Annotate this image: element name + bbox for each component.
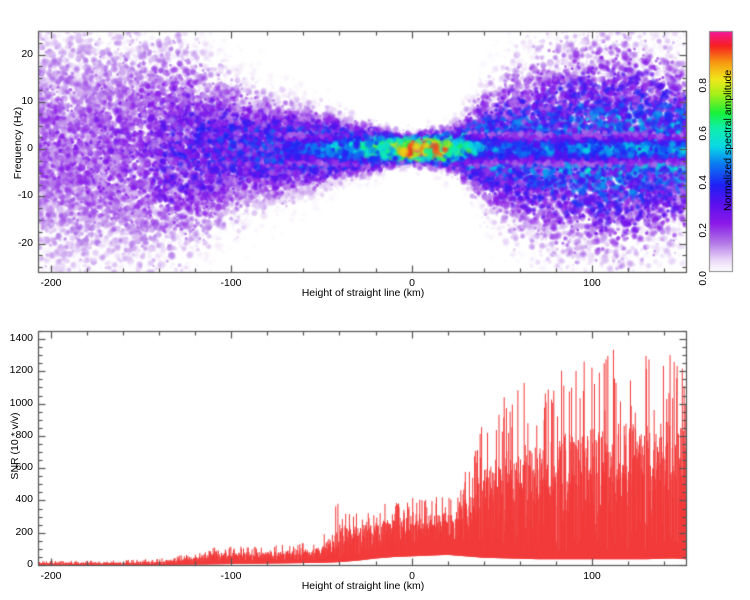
spectrogram-xaxis-label: Height of straight line (km) — [238, 287, 488, 299]
snr-ytick-0: 0 — [0, 558, 33, 570]
plot-canvas — [0, 0, 750, 600]
spectrogram-ytick-2: 0 — [0, 142, 33, 154]
colorbar-tick-2: 0.4 — [697, 175, 709, 209]
spectrogram-xtick-3: 100 — [562, 277, 622, 289]
snr-ytick-7: 1400 — [0, 332, 33, 344]
spectrogram-xtick-0: -200 — [21, 277, 81, 289]
spectrogram-xtick-2: 0 — [382, 277, 442, 289]
figure-container: S225.2025.262.07.39.R08 Height of straig… — [0, 0, 750, 600]
spectrogram-ytick-1: -10 — [0, 189, 33, 201]
snr-ytick-6: 1200 — [0, 364, 33, 376]
snr-xtick-2: 0 — [382, 570, 442, 582]
colorbar-tick-0: 0.0 — [697, 271, 709, 305]
spectrogram-ytick-3: 10 — [0, 95, 33, 107]
colorbar-tick-4: 0.8 — [697, 78, 709, 112]
snr-ytick-4: 800 — [0, 429, 33, 441]
snr-xtick-0: -200 — [21, 570, 81, 582]
colorbar-label: Normalized spectral amplitude — [722, 91, 734, 211]
colorbar-tick-1: 0.2 — [697, 223, 709, 257]
snr-ytick-5: 1000 — [0, 397, 33, 409]
spectrogram-xtick-1: -100 — [201, 277, 261, 289]
snr-ytick-2: 400 — [0, 493, 33, 505]
snr-ytick-3: 600 — [0, 461, 33, 473]
snr-xtick-3: 100 — [562, 570, 622, 582]
spectrogram-ytick-0: -20 — [0, 237, 33, 249]
snr-ytick-1: 200 — [0, 526, 33, 538]
spectrogram-ytick-4: 20 — [0, 48, 33, 60]
colorbar-tick-3: 0.6 — [697, 126, 709, 160]
snr-xtick-1: -100 — [201, 570, 261, 582]
snr-xaxis-label: Height of straight line (km) — [238, 580, 488, 592]
